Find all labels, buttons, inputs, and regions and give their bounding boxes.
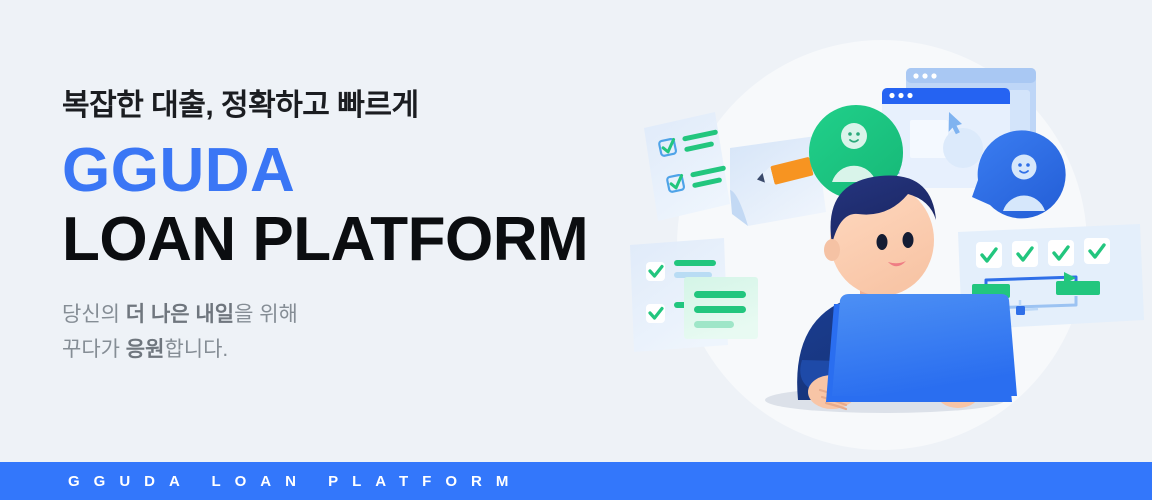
pointer-blob [943, 128, 983, 168]
tagline-line-2: 꾸다가 응원합니다. [62, 333, 622, 368]
tagline-2-pre: 꾸다가 [62, 338, 126, 361]
eye-left [877, 234, 888, 250]
tagline-1-pre: 당신의 [62, 303, 126, 326]
ear [824, 239, 840, 261]
laptop-screen [832, 294, 1017, 396]
eye-right [903, 232, 914, 248]
brand-title: GGUDA [62, 138, 622, 203]
hero-tagline: 당신의 더 나은 내일을 위해 꾸다가 응원합니다. [62, 298, 622, 367]
ribbon-text: GGUDA LOAN PLATFORM [68, 473, 522, 490]
tagline-2-post: 합니다. [164, 338, 228, 361]
tagline-2-strong: 응원 [126, 338, 165, 361]
avatar-head-green [841, 123, 867, 149]
hero-banner: 복잡한 대출, 정확하고 빠르게 GGUDA LOAN PLATFORM 당신의… [0, 0, 1152, 500]
bottom-ribbon: GGUDA LOAN PLATFORM [0, 462, 1152, 500]
hero-eyebrow: 복잡한 대출, 정확하고 빠르게 [62, 88, 622, 124]
note-card-mint [684, 277, 758, 339]
hero-copy: 복잡한 대출, 정확하고 빠르게 GGUDA LOAN PLATFORM 당신의… [62, 88, 622, 367]
checklist-card-top-left [644, 112, 730, 221]
tagline-1-post: 을 위해 [234, 303, 298, 326]
tagline-line-1: 당신의 더 나은 내일을 위해 [62, 298, 622, 333]
hero-illustration [620, 0, 1152, 462]
tagline-1-strong: 더 나은 내일 [126, 303, 234, 326]
product-title: LOAN PLATFORM [62, 207, 622, 272]
